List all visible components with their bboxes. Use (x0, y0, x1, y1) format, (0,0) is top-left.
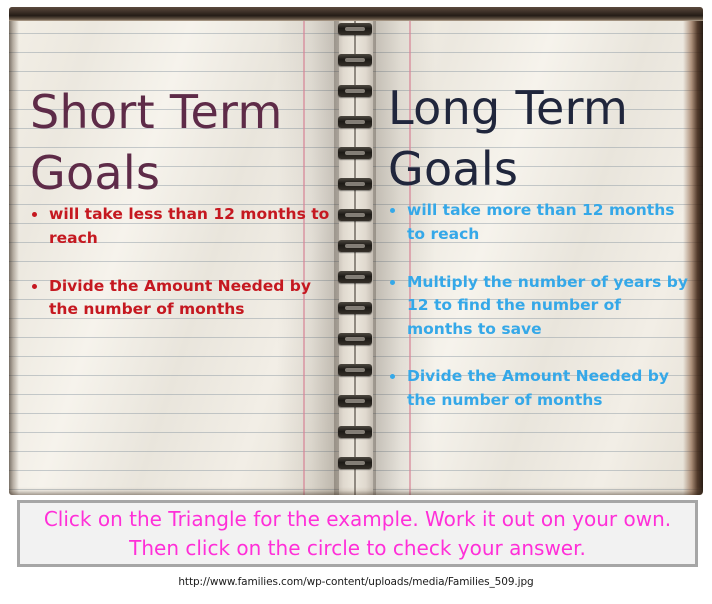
long-term-heading-line1: Long Term (388, 78, 688, 139)
spiral-ring (338, 240, 372, 252)
spiral-ring (338, 85, 372, 97)
spiral-ring (338, 395, 372, 407)
spiral-ring (338, 54, 372, 66)
spiral-ring (338, 209, 372, 221)
slide-root: Short Term Goals will take less than 12 … (0, 0, 712, 604)
bullet-dot-icon (390, 280, 395, 285)
instruction-box: Click on the Triangle for the example. W… (17, 500, 698, 567)
spiral-ring (338, 178, 372, 190)
bullet-dot-icon (390, 374, 395, 379)
spiral-ring (338, 333, 372, 345)
spiral-ring (338, 302, 372, 314)
bullet-dot-icon (32, 212, 37, 217)
list-item: will take more than 12 months to reach (388, 199, 688, 246)
source-url-caption: http://www.families.com/wp-content/uploa… (0, 576, 712, 588)
bullet-dot-icon (390, 208, 395, 213)
list-item: Multiply the number of years by 12 to fi… (388, 271, 688, 342)
spiral-ring (338, 271, 372, 283)
list-item-text: will take less than 12 months to reach (49, 205, 329, 247)
list-item-text: Divide the Amount Needed by the number o… (49, 277, 311, 319)
spiral-ring (338, 426, 372, 438)
short-term-heading-line1: Short Term (30, 82, 330, 143)
long-term-bullet-list: will take more than 12 months to reach M… (388, 199, 688, 412)
long-term-column: Long Term Goals will take more than 12 m… (388, 78, 688, 436)
long-term-heading-line2: Goals (388, 139, 688, 200)
short-term-bullet-list: will take less than 12 months to reach D… (30, 203, 330, 321)
spiral-ring (338, 23, 372, 35)
notebook-cover-top-edge (9, 7, 703, 21)
list-item: will take less than 12 months to reach (30, 203, 330, 250)
spiral-ring (338, 147, 372, 159)
instruction-text: Click on the Triangle for the example. W… (30, 505, 685, 563)
list-item-text: Multiply the number of years by 12 to fi… (407, 273, 688, 338)
list-item: Divide the Amount Needed by the number o… (30, 275, 330, 322)
spiral-ring (338, 364, 372, 376)
list-item: Divide the Amount Needed by the number o… (388, 365, 688, 412)
spiral-ring (338, 116, 372, 128)
short-term-heading-line2: Goals (30, 143, 330, 204)
list-item-text: will take more than 12 months to reach (407, 201, 674, 243)
spiral-ring (338, 457, 372, 469)
short-term-column: Short Term Goals will take less than 12 … (30, 82, 330, 346)
notebook-cover-bottom-edge (9, 487, 703, 495)
list-item-text: Divide the Amount Needed by the number o… (407, 367, 669, 409)
notebook-cover-left-edge (9, 7, 19, 495)
bullet-dot-icon (32, 284, 37, 289)
spiral-binding (334, 7, 376, 495)
